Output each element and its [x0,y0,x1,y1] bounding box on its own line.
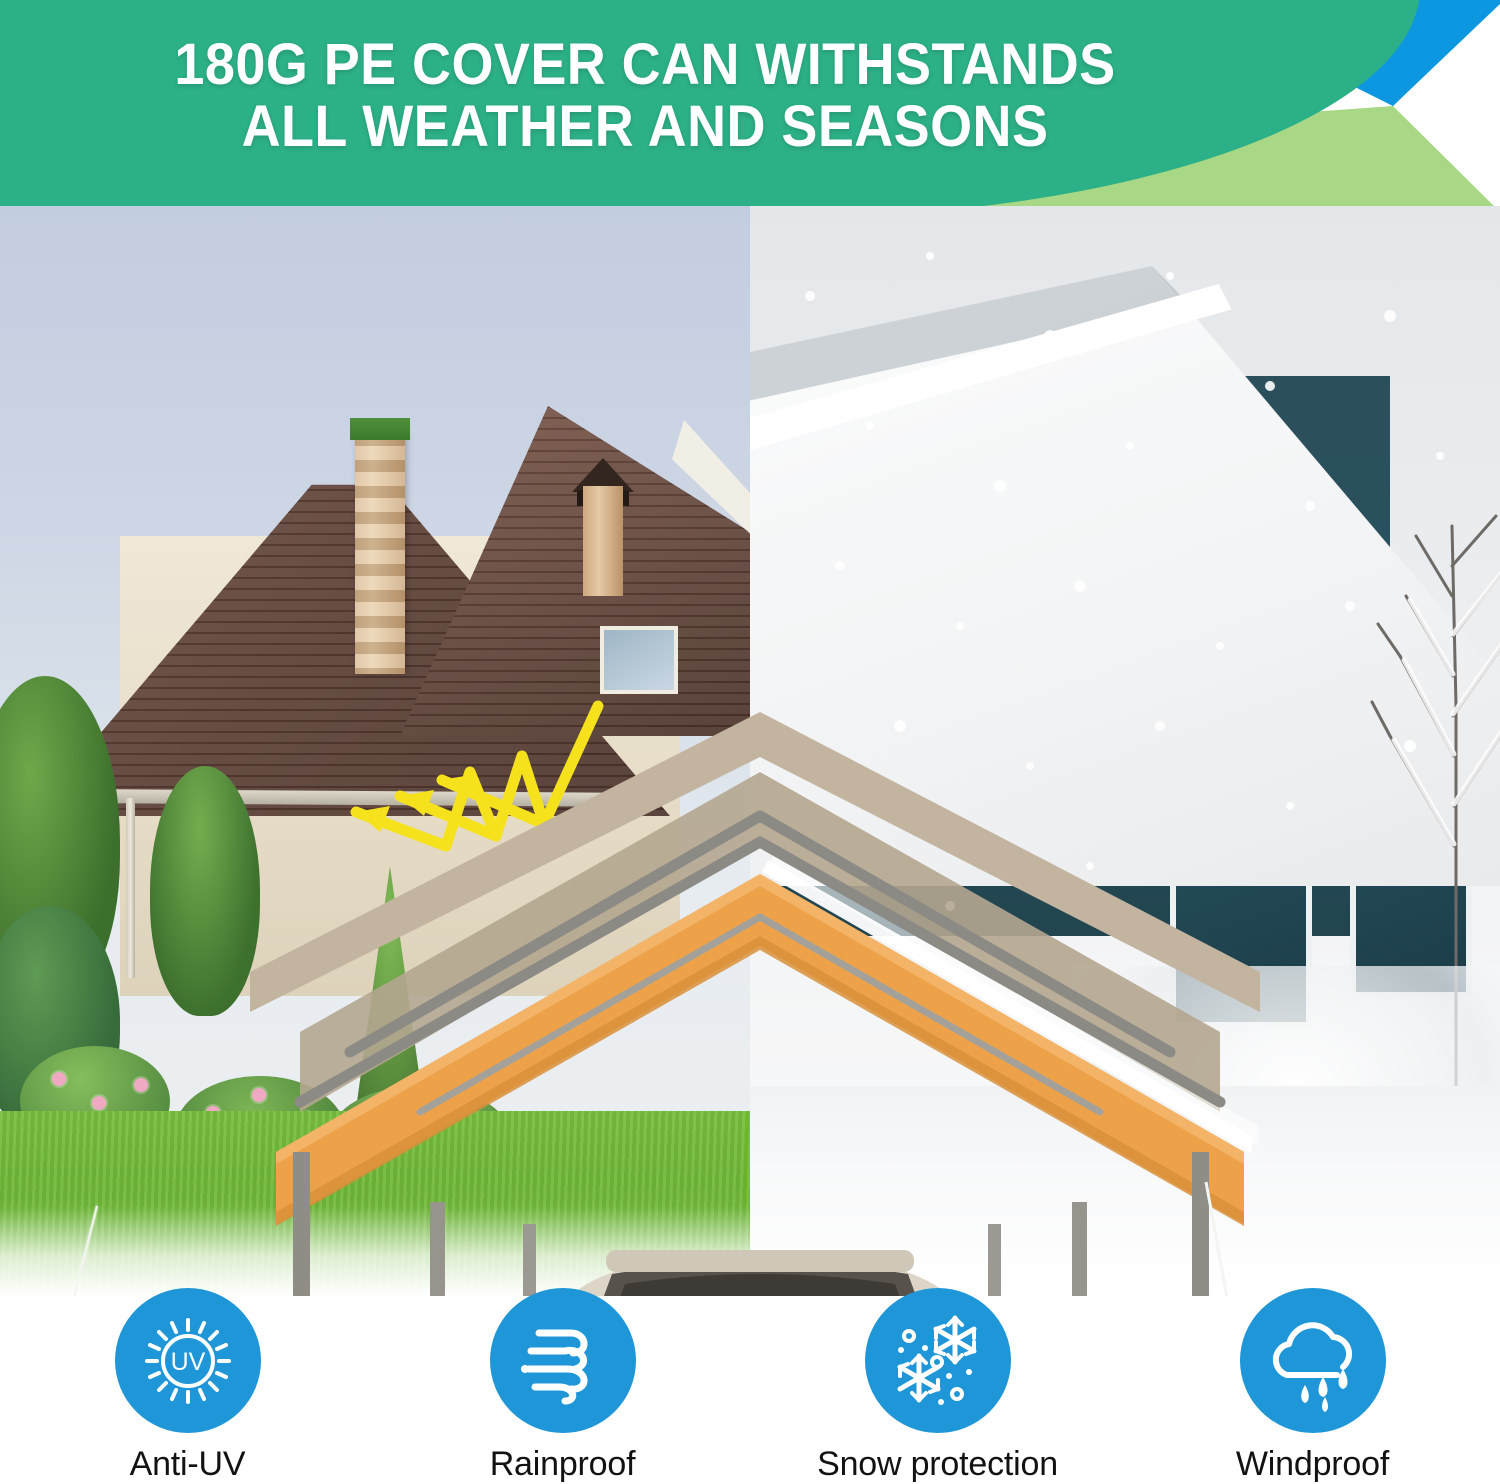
feature-anti-uv[interactable]: UV Anti-UV [0,1276,375,1484]
feature-label: Rainproof [490,1445,636,1484]
feature-label: Snow protection [817,1445,1058,1484]
downpipe [126,798,135,978]
second-chimney [583,486,623,596]
stone-chimney [355,434,405,674]
page-title: 180G PE COVER CAN WITHSTANDS ALL WEATHER… [45,34,1245,158]
uv-sun-icon: UV [115,1288,261,1433]
flower [134,1078,148,1092]
feature-label: Windproof [1236,1445,1389,1484]
uv-reflection-arrows [330,696,610,876]
summer-scene [0,206,750,1296]
wind-icon [490,1288,636,1433]
snowflake-icon [865,1288,1011,1433]
feature-list: UV Anti-UV [0,1276,1500,1484]
feature-windproof[interactable]: Windproof [1125,1276,1500,1484]
rain-cloud-icon [1240,1288,1386,1433]
product-feature-image: 180G PE COVER CAN WITHSTANDS ALL WEATHER… [0,0,1500,1484]
snow-ground [750,1086,1500,1296]
header-banner: 180G PE COVER CAN WITHSTANDS ALL WEATHER… [0,0,1500,240]
flower [52,1072,66,1086]
house-window [600,626,678,694]
chimney-cap [350,418,410,440]
feature-label: Anti-UV [130,1445,246,1484]
svg-text:UV: UV [170,1348,205,1376]
feature-rainproof[interactable]: Rainproof [375,1276,750,1484]
winter-scene [750,206,1500,1296]
flower [252,1088,266,1102]
feature-snow-protection[interactable]: Snow protection [750,1276,1125,1484]
product-photo [0,206,1500,1296]
tree [150,766,260,1016]
flower [92,1096,106,1110]
